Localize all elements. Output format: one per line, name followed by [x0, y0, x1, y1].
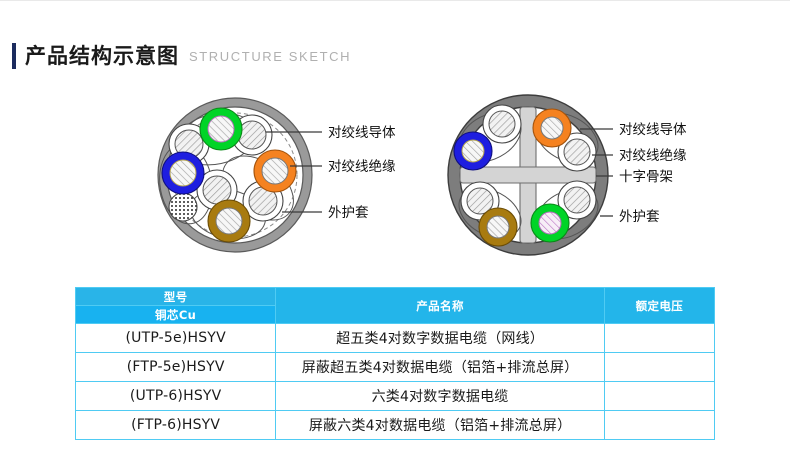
table-body: (UTP-5e)HSYV 超五类4对数字数据电缆（网线） (FTP-5e)HSY… [76, 324, 715, 440]
cell-rated-voltage [604, 324, 714, 353]
cell-model: (UTP-6)HSYV [76, 382, 276, 411]
cell-model: (FTP-6)HSYV [76, 411, 276, 440]
label-pair-conductor: 对绞线导体 [328, 124, 396, 141]
table-row: (FTP-5e)HSYV 屏蔽超五类4对数据电缆（铝箔+排流总屏） [76, 353, 715, 382]
cell-rated-voltage [604, 353, 714, 382]
table-row: (FTP-6)HSYV 屏蔽六类4对数据电缆（铝箔+排流总屏） [76, 411, 715, 440]
cell-rated-voltage [604, 382, 714, 411]
label-pair-insulation: 对绞线绝缘 [619, 147, 687, 164]
cell-rated-voltage [604, 411, 714, 440]
title-chinese: 产品结构示意图 [25, 46, 179, 67]
title-accent-bar [12, 43, 16, 69]
table-row: (UTP-5e)HSYV 超五类4对数字数据电缆（网线） [76, 324, 715, 353]
cell-product-name: 屏蔽超五类4对数据电缆（铝箔+排流总屏） [276, 353, 605, 382]
title-english: STRUCTURE SKETCH [189, 50, 351, 63]
label-cross-spline: 十字骨架 [619, 169, 673, 185]
product-structure-page: 产品结构示意图 STRUCTURE SKETCH [0, 0, 790, 471]
col-header-model-group: 型号 [76, 288, 276, 306]
cell-product-name: 六类4对数字数据电缆 [276, 382, 605, 411]
table-header-row-1: 型号 产品名称 额定电压 [76, 288, 715, 306]
label-outer-jacket: 外护套 [328, 205, 369, 221]
ftp-cat6-cross-section: 对绞线导体 对绞线绝缘 十字骨架 外护套 [440, 88, 740, 263]
col-header-model-sub: 铜芯Cu [76, 306, 276, 324]
cell-product-name: 屏蔽六类4对数据电缆（铝箔+排流总屏） [276, 411, 605, 440]
spec-table: 型号 产品名称 额定电压 铜芯Cu (UTP-5e)HSYV 超五类4对数字数据… [75, 287, 715, 440]
drain-wire [169, 193, 197, 221]
top-divider [0, 0, 790, 1]
label-outer-jacket: 外护套 [619, 209, 660, 225]
page-title: 产品结构示意图 STRUCTURE SKETCH [12, 41, 351, 71]
cell-product-name: 超五类4对数字数据电缆（网线） [276, 324, 605, 353]
label-pair-conductor: 对绞线导体 [619, 121, 687, 138]
col-header-product-name: 产品名称 [276, 288, 605, 324]
spec-table-wrap: 型号 产品名称 额定电压 铜芯Cu (UTP-5e)HSYV 超五类4对数字数据… [75, 287, 715, 440]
table-row: (UTP-6)HSYV 六类4对数字数据电缆 [76, 382, 715, 411]
cell-model: (FTP-5e)HSYV [76, 353, 276, 382]
label-pair-insulation: 对绞线绝缘 [328, 158, 396, 175]
cell-model: (UTP-5e)HSYV [76, 324, 276, 353]
diagram-area: 对绞线导体 对绞线绝缘 外护套 [0, 88, 790, 263]
col-header-rated-voltage: 额定电压 [604, 288, 714, 324]
utp-cat5e-cross-section: 对绞线导体 对绞线绝缘 外护套 [150, 88, 400, 263]
